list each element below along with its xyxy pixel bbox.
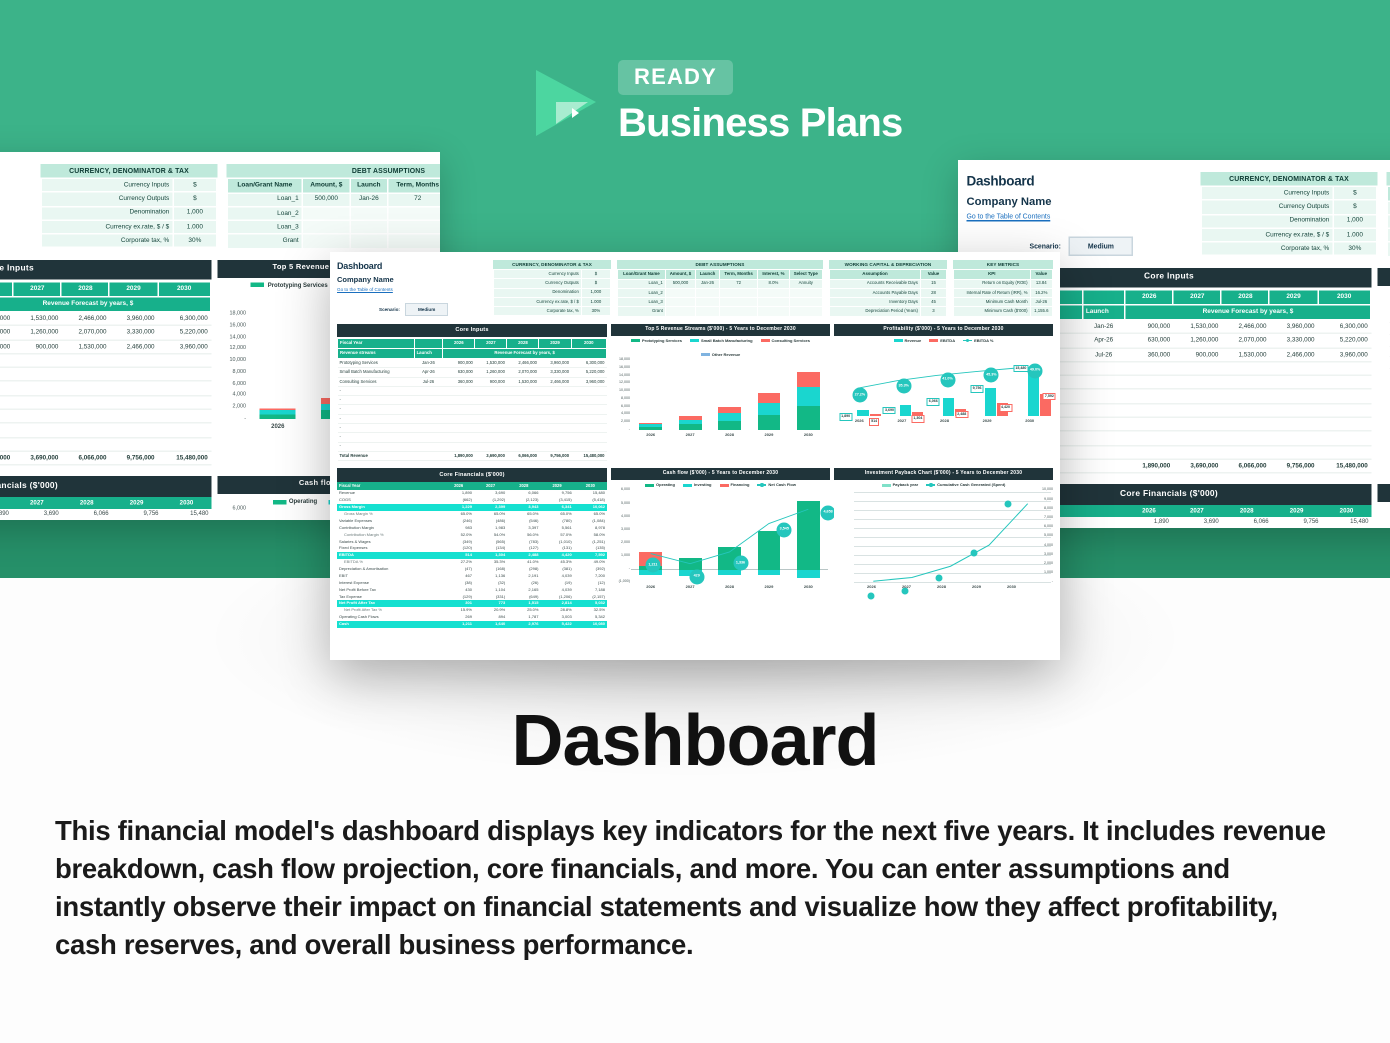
core-financials-band: Core Financials ($'000)	[337, 468, 607, 482]
cash-flow-section: Cash flow ($'000) - 5 Years to December …	[1378, 478, 1390, 528]
dashboard-sheet-main[interactable]: DashboardCompany NameGo to the Table of …	[330, 252, 1060, 660]
table-row: Currency ex.rate, $ / $1.000	[1201, 228, 1377, 242]
core-inputs-band: Core Inputs	[0, 259, 212, 280]
table-row: Gross Margin1,2292,3993,9436,34110,062	[337, 504, 607, 511]
core-inputs-table: Fiscal Year20262027202820292030Revenue s…	[0, 282, 212, 466]
table-row: Small Batch ManufacturingApr-26630,0001,…	[0, 326, 211, 340]
revenue-streams-chart[interactable]: Prototyping ServicesSmall Batch Manufact…	[1378, 285, 1390, 429]
y-axis: (1,000)-1,0002,0003,0004,0005,0006,000	[1378, 518, 1390, 528]
panel-title: CURRENCY, DENOMINATOR & TAX	[1201, 172, 1378, 186]
x-axis: 20262027202820292030	[631, 432, 828, 444]
core-financials-band: Core Financials ($'000)	[0, 476, 212, 497]
revenue-label: 9,756	[971, 385, 984, 393]
table-row-empty: -	[0, 354, 211, 368]
panel-table: AssumptionValueAccounts Receivable Days1…	[829, 269, 947, 316]
legend-item: Consulting Services	[761, 338, 810, 344]
bar-group	[670, 362, 709, 430]
table-row: Salaries & Wages(349)(565)(783)(1,010)(1…	[337, 538, 607, 545]
cumulative-cash-point	[936, 574, 943, 581]
cumulative-cash-line	[854, 492, 1047, 582]
table-row-empty: -	[338, 414, 607, 423]
table-row: COGS(662)(1,292)(2,123)(3,415)(5,418)	[337, 497, 607, 504]
table-row-empty: -	[0, 381, 211, 395]
x-axis: 20262027202820292030	[838, 418, 1051, 430]
panel-title: CURRENCY, DENOMINATOR & TAX	[493, 260, 611, 269]
scenario-label: Scenario:	[379, 306, 400, 313]
legend-item: Cumulative Cash Generated (Spent)	[926, 482, 1005, 488]
chart-title: Top 5 Revenue Streams ($'000) - 5 Years …	[1378, 267, 1390, 285]
panel-table: Currency Inputs$Currency Outputs$Denomin…	[493, 269, 611, 316]
profitability-chart-section: Profitability ($'000) - 5 Years to Decem…	[834, 320, 1053, 462]
table-row: Currency Inputs$	[494, 270, 611, 279]
table-row-empty: -	[0, 395, 211, 409]
panel-table: Loan/Grant NameAmount, $LaunchTerm, Mont…	[617, 269, 823, 316]
bar-group	[710, 362, 749, 430]
y-axis: -2,0004,0006,0008,00010,00012,00014,0001…	[611, 360, 631, 430]
debt-panel: DEBT ASSUMPTIONSLoan/Grant NameAmount, $…	[227, 164, 441, 249]
bar-area	[631, 362, 828, 430]
panel-table: KPIValueReturn on Equity (ROE)13.84Inter…	[953, 269, 1053, 316]
legend-item: EBITDA %	[963, 338, 993, 344]
chart-title: Top 5 Revenue Streams ($'000) - 5 Years …	[611, 324, 830, 336]
legend-item: Operating	[272, 497, 317, 506]
bar-group	[789, 362, 828, 430]
revenue-label: 3,690	[883, 407, 896, 415]
table-row: Contribution Margin9831,9833,3975,5618,9…	[337, 525, 607, 532]
scenario-label: Scenario:	[1030, 241, 1061, 252]
table-row-empty: -	[338, 424, 607, 433]
legend-item: Other Revenue	[701, 352, 740, 358]
y-axis: (1,000)-1,0002,0003,0004,0005,0006,000	[218, 510, 248, 520]
col-header: Interest, %	[758, 270, 789, 279]
company-name: Company Name	[967, 193, 1192, 210]
legend-item: Small Batch Manufacturing	[690, 338, 753, 344]
bar-segment	[679, 424, 702, 430]
table-row: Cash1,2111,6402,9765,42210,080	[337, 621, 607, 628]
company-name: Company Name	[337, 274, 487, 286]
currency-panel: CURRENCY, DENOMINATOR & TAXCurrency Inpu…	[1201, 172, 1378, 257]
col-header: Loan/Grant Name	[618, 270, 666, 279]
revenue-chart-section: Top 5 Revenue Streams ($'000) - 5 Years …	[1378, 261, 1390, 473]
col-header: KPI	[954, 270, 1031, 279]
col-header: Term, Months	[719, 270, 757, 279]
table-row: Consulting ServicesJul-26360,000900,0001…	[0, 340, 211, 354]
net-cash-flow-bubble: 429	[689, 569, 704, 584]
currency-panel: CURRENCY, DENOMINATOR & TAXCurrency Inpu…	[41, 164, 218, 249]
y-axis: -2,0004,0006,0008,00010,00012,00014,0001…	[1378, 322, 1390, 427]
panel-table: Loan/Grant NameAmount, $LaunchTerm, Mont…	[1387, 186, 1390, 257]
table-row: Fixed Expenses(120)(134)(127)(131)(135)	[337, 545, 607, 552]
table-row: Grant	[618, 307, 823, 316]
table-row-empty: -	[338, 386, 607, 395]
core-inputs-band: Core Inputs	[337, 324, 607, 338]
legend-item: Prototyping Services	[631, 338, 682, 344]
table-row: Contribution Margin %52.0%54.0%56.0%57.0…	[337, 531, 607, 538]
table-row: EBITDA5141,3042,4884,4207,592	[337, 552, 607, 559]
bar-segment	[758, 403, 781, 416]
col-header: Value	[920, 270, 946, 279]
table-row: Inventory Days45	[830, 298, 947, 307]
currency-panel: CURRENCY, DENOMINATOR & TAXCurrency Inpu…	[493, 260, 611, 316]
net-cash-flow-bubble: 3,545	[777, 522, 792, 537]
col-header: Loan/Grant Name	[227, 178, 302, 192]
ebitda-pct-bubble: 45.3%	[984, 367, 999, 382]
table-row-empty: -	[338, 442, 607, 451]
panel-title: WORKING CAPITAL & DEPRECIATION	[829, 260, 947, 269]
investment-payback-chart[interactable]: Payback yearCumulative Cash Generated (S…	[834, 480, 1053, 598]
table-row: Grant	[227, 234, 440, 248]
table-row: Corporate tax, %30%	[41, 234, 217, 248]
core-financials-table: Fiscal Year20262027202820292030Revenue1,…	[337, 482, 607, 628]
table-row-empty: -	[338, 396, 607, 405]
bar-segment	[260, 414, 295, 419]
legend-item: Net Cash Flow	[757, 482, 796, 488]
table-row: Currency Outputs$	[41, 192, 217, 206]
table-row: Prototyping ServicesJan-26900,0001,530,0…	[0, 312, 211, 326]
core-inputs-table: Fiscal Year20262027202820292030Revenue s…	[337, 338, 607, 461]
panel-title: DEBT ASSUMPTIONS	[227, 164, 441, 178]
table-row: EBITDA %27.2%35.3%41.0%45.3%49.0%	[337, 559, 607, 566]
ebitda-pct-bubble: 35.3%	[896, 379, 911, 394]
ebitda-pct-bubble: 41.0%	[940, 372, 955, 387]
scenario-select[interactable]: Medium	[1068, 236, 1133, 256]
table-row: Loan_1500,000Jan-26728.0%Annuity	[227, 193, 440, 207]
toc-link[interactable]: Go to the Table of Contents	[967, 210, 1192, 221]
profitability-chart[interactable]: RevenueEBITDAEBITDA %27.2%35.3%41.0%45.3…	[834, 336, 1053, 432]
core-financials-section: Core Financials ($'000)Fiscal Year202620…	[337, 464, 607, 627]
table-row: Denomination1,000	[1201, 214, 1377, 228]
bar-segment	[758, 415, 781, 430]
page-description: This financial model's dashboard display…	[55, 812, 1340, 964]
table-row: Return on Equity (ROE)13.84	[954, 279, 1053, 288]
legend-item: Operating	[645, 482, 675, 488]
table-row: Operating Cash Flows2698941,7873,0035,34…	[337, 614, 607, 621]
bar-group	[248, 317, 309, 419]
table-row: COGS(662)(1,292)(2,123)(3,415)(5,418)	[0, 520, 212, 521]
chart-legend: OperatingInvestingFinancingNet Cash Flow	[1378, 502, 1390, 517]
table-row: Net Profit After Tax %15.9%20.9%25.0%28.…	[337, 607, 607, 614]
table-row: Currency Inputs$	[41, 178, 217, 192]
x-axis: 20262027202820292030	[854, 584, 1029, 596]
toc-link[interactable]: Go to the Table of Contents	[337, 286, 487, 293]
debt-panel: DEBT ASSUMPTIONSLoan/Grant NameAmount, $…	[1387, 172, 1390, 257]
ebitda-pct-bubble: 27.2%	[852, 388, 867, 403]
revenue-streams-chart[interactable]: Prototyping ServicesSmall Batch Manufact…	[611, 336, 830, 432]
company-name: Company Name	[0, 185, 32, 202]
table-row: Revenue1,8903,6906,0669,75615,480	[337, 490, 607, 497]
chart-legend: RevenueEBITDAEBITDA %	[834, 336, 1053, 346]
cash-flow-section: Cash flow ($'000) - 5 Years to December …	[611, 464, 830, 627]
table-row: Currency Outputs$	[494, 279, 611, 288]
chart-title: Profitability ($'000) - 5 Years to Decem…	[834, 324, 1053, 336]
total-row: Total Revenue1,890,0003,690,0006,066,000…	[0, 451, 211, 465]
table-row-empty: -	[0, 368, 211, 382]
panel-table: Currency Inputs$Currency Outputs$Denomin…	[41, 178, 218, 249]
bar-segment	[797, 406, 820, 430]
table-row: Depreciation & Amortisation(47)(168)(298…	[337, 566, 607, 573]
table-row-empty: -	[0, 437, 211, 451]
x-axis: 20262027202820292030	[631, 584, 828, 596]
table-row: Consulting ServicesJul-26360,000900,0001…	[338, 377, 607, 386]
table-row: Variable Expenses(246)(486)(546)(780)(1,…	[337, 518, 607, 525]
bar-segment	[758, 393, 781, 402]
cumulative-cash-point	[1004, 501, 1011, 508]
chart-title: Investment Payback Chart ($'000) - 5 Yea…	[834, 468, 1053, 480]
working-capital-panel: WORKING CAPITAL & DEPRECIATIONAssumption…	[829, 260, 947, 317]
chart-legend: OperatingInvestingFinancingNet Cash Flow	[611, 480, 830, 490]
legend-item: Investing	[683, 482, 712, 488]
chart-legend: Payback yearCumulative Cash Generated (S…	[834, 480, 1053, 490]
col-header: Select Type	[789, 270, 822, 279]
cumulative-cash-point	[970, 550, 977, 557]
table-row-empty: -	[0, 409, 211, 423]
net-cash-flow-bubble: 1,211	[645, 557, 660, 572]
panel-title: KEY METRICS	[953, 260, 1053, 269]
scenario-select[interactable]: Medium	[405, 303, 448, 316]
col-header: Value	[1030, 270, 1052, 279]
table-row: Interest Expense(38)(32)(26)(19)(12)	[337, 580, 607, 587]
panel-title: CURRENCY, DENOMINATOR & TAX	[41, 164, 218, 178]
table-row: Net Profit Before Tax4301,1042,1654,0397…	[337, 586, 607, 593]
bar-group	[631, 362, 670, 430]
ebitda-pct-bubble: 49.0%	[1028, 363, 1043, 378]
table-row: Loan_2	[618, 288, 823, 297]
play-triangle-logo-icon	[530, 64, 602, 140]
legend-item: Payback year	[882, 482, 919, 488]
table-row: Currency Inputs$	[1201, 186, 1377, 200]
sheet-title: Dashboard	[337, 260, 487, 274]
revenue-label: 6,066	[927, 398, 940, 406]
legend-item: Financing	[720, 482, 750, 488]
payback-section: Investment Payback Chart ($'000) - 5 Yea…	[834, 464, 1053, 627]
chart-title: Cash flow ($'000) - 5 Years to December …	[1378, 484, 1390, 502]
panel-table: Loan/Grant NameAmount, $LaunchTerm, Mont…	[227, 178, 441, 249]
legend-item: EBITDA	[929, 338, 955, 344]
debt-panel: DEBT ASSUMPTIONSLoan/Grant NameAmount, $…	[617, 260, 823, 317]
table-row-empty: -	[338, 405, 607, 414]
panel-title: DEBT ASSUMPTIONS	[1387, 172, 1390, 186]
y-axis: -2,0004,0006,0008,00010,00012,00014,0001…	[218, 314, 248, 419]
ebitda-label: 7,592	[1043, 393, 1056, 401]
table-row: Minimum Cash ($'000)1,155.6	[954, 307, 1053, 316]
table-row: Accounts Payable Days28	[830, 288, 947, 297]
col-header: Amount, $	[665, 270, 695, 279]
bar-segment	[718, 413, 741, 421]
table-row: Corporate tax, %30%	[494, 307, 611, 316]
table-row: Prototyping ServicesJan-26900,0001,530,0…	[338, 359, 607, 368]
legend-item: Revenue	[894, 338, 922, 344]
bar-group	[749, 362, 788, 430]
table-row: Internal Rate of Return (IRR), %16.2%	[954, 288, 1053, 297]
panel-title: DEBT ASSUMPTIONS	[617, 260, 823, 269]
table-row: Denomination1,000	[494, 288, 611, 297]
table-row: Depreciation Period (Years)3	[830, 307, 947, 316]
col-header: Assumption	[830, 270, 921, 279]
table-row: Accounts Receivable Days15	[830, 279, 947, 288]
col-header: Term, Months	[388, 178, 440, 192]
table-row: Currency ex.rate, $ / $1.000	[41, 220, 217, 234]
col-header: Amount, $	[302, 178, 350, 192]
revenue-label: 15,480	[1013, 365, 1028, 373]
panel-table: Currency Inputs$Currency Outputs$Denomin…	[1201, 186, 1378, 257]
title-accent-triangle-icon	[572, 108, 579, 118]
table-row: Gross Margin %65.0%65.0%65.0%65.0%65.0%	[337, 511, 607, 518]
key-metrics-panel: KEY METRICSKPIValueReturn on Equity (ROE…	[953, 260, 1053, 317]
cash-flow-chart[interactable]: OperatingInvestingFinancingNet Cash Flow…	[611, 480, 830, 598]
sheet-title: Dashboard	[967, 172, 1192, 193]
legend-item: Prototyping Services	[251, 280, 328, 289]
table-row: Net Profit After Tax3017731,5152,8145,03…	[337, 600, 607, 607]
table-row: EBIT4671,1362,1914,0397,200	[337, 573, 607, 580]
revenue-chart-section: Top 5 Revenue Streams ($'000) - 5 Years …	[611, 320, 830, 462]
core-financials-section: Core Financials ($'000)Fiscal Year202620…	[0, 470, 212, 520]
table-row: Loan_3	[618, 298, 823, 307]
chart-title: Cash flow ($'000) - 5 Years to December …	[611, 468, 830, 480]
bar-segment	[639, 427, 662, 430]
table-row: Corporate tax, %30%	[1201, 242, 1377, 256]
table-row: Denomination1,000	[41, 206, 217, 220]
table-row: Currency ex.rate, $ / $1.000	[494, 297, 611, 306]
ebitda-label: 4,420	[999, 404, 1012, 412]
table-row-empty: -	[0, 423, 211, 437]
table-row: Loan_3	[227, 220, 440, 234]
bar-segment	[797, 387, 820, 407]
cash-flow-chart[interactable]: OperatingInvestingFinancingNet Cash Flow…	[1378, 502, 1390, 528]
chart-legend: Prototyping ServicesSmall Batch Manufact…	[1378, 285, 1390, 322]
core-inputs-section: Core InputsFiscal Year202620272028202920…	[337, 320, 607, 462]
table-row: Currency Outputs$	[1201, 200, 1377, 214]
net-cash-flow-line	[631, 492, 828, 582]
sheet-title: Dashboard	[0, 164, 32, 185]
core-financials-table: Fiscal Year20262027202820292030Revenue1,…	[0, 497, 212, 520]
table-row: Minimum Cash MonthJul-26	[954, 298, 1053, 307]
table-row: Loan_2	[227, 206, 440, 220]
table-row: Small Batch ManufacturingApr-26630,0001,…	[338, 368, 607, 377]
net-cash-flow-bubble: 1,336	[733, 556, 748, 571]
bar-segment	[797, 372, 820, 387]
brand-logo: READY Business Plans	[530, 60, 930, 156]
y-axis: (1,000)-1,0002,0003,0004,0005,0006,000	[611, 490, 631, 582]
table-row: Loan_1500,000Jan-26728.0%Annuity	[618, 279, 823, 288]
ready-badge: READY	[618, 60, 733, 95]
col-header: Launch	[350, 178, 387, 192]
core-inputs-section: Core InputsFiscal Year202620272028202920…	[0, 253, 212, 465]
total-row: Total Revenue1,890,0003,690,0006,066,000…	[338, 451, 607, 460]
table-row: Revenue1,8903,6906,0669,75615,480	[0, 509, 212, 519]
table-row-empty: -	[338, 433, 607, 442]
chart-legend: Prototyping ServicesSmall Batch Manufact…	[611, 336, 830, 360]
col-header: Launch	[696, 270, 720, 279]
page-title: Dashboard	[0, 700, 1390, 782]
toc-link[interactable]: Go to the Table of Contents	[0, 202, 32, 213]
bar-segment	[718, 421, 741, 430]
table-row: Tax Expense(129)(331)(649)(1,206)(2,157)	[337, 593, 607, 600]
brand-title: Business Plans	[618, 101, 902, 146]
